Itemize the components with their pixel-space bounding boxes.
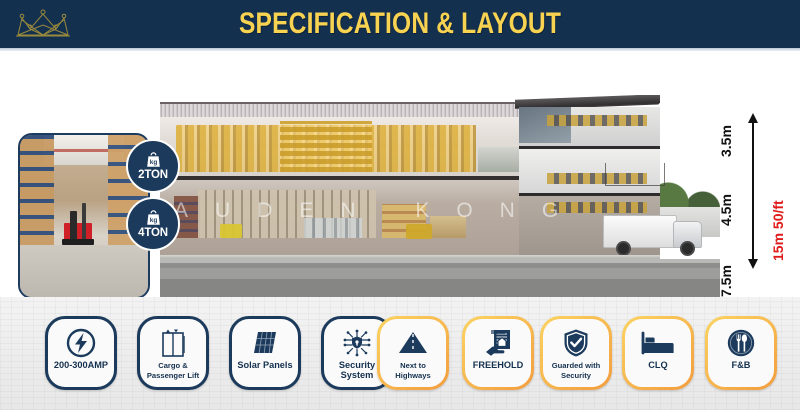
feature-badge-solar[interactable]: Solar Panels (229, 316, 301, 390)
capacity-badge-label: 4TON (138, 227, 168, 239)
shield-check-icon (563, 328, 589, 358)
feature-badge-label: 200-300AMP (51, 361, 111, 371)
office-level-3 (519, 107, 660, 149)
capacity-badge-label: 2TON (138, 169, 168, 181)
svg-text:kg: kg (149, 217, 157, 224)
feature-badge-strip: 200-300AMP Cargo &Passenger Lift (0, 297, 800, 410)
feature-badge-amp[interactable]: 200-300AMP (45, 316, 117, 390)
ground-storey (160, 180, 541, 259)
stacked-goods-b (430, 216, 466, 238)
dimension-label-level2: 4.5m (718, 194, 734, 226)
feature-badge-label: Cargo &Passenger Lift (144, 361, 202, 380)
dimension-label-level1: 7.5m (718, 265, 734, 297)
office-desks-l1 (547, 202, 647, 213)
warehouse-cross-section: 5° Pitch Fall (160, 95, 720, 297)
fork-spoon-icon (726, 328, 756, 358)
security-shield-circuit-icon (342, 328, 372, 358)
page-title: SPECIFICATION & LAYOUT (72, 0, 728, 48)
feature-badge-clq[interactable]: CLQ (622, 316, 694, 390)
office-level-2 (519, 149, 660, 196)
delivery-truck-body (603, 215, 677, 248)
truck-wheel-front (680, 241, 695, 256)
capacity-badge-2ton: kg 2TON (126, 139, 180, 193)
feature-badge-label: F&B (729, 361, 754, 371)
specification-layout-page: SPECIFICATION & LAYOUT 5° Pitch Fall (0, 0, 800, 410)
pitch-fall-label: 5° Pitch Fall (168, 95, 212, 97)
highway-road-icon (396, 328, 430, 358)
crown-icon (12, 7, 74, 41)
office-desks-l3 (547, 115, 647, 126)
upper-storey (160, 117, 541, 180)
feature-badge-label: Next toHighways (392, 361, 433, 380)
photo-racking-left (20, 135, 54, 247)
feature-badge-fnb[interactable]: F&B (705, 316, 777, 390)
double-headed-arrow-icon (747, 113, 759, 269)
mezzanine-railing (605, 163, 665, 186)
feature-badge-label: Guarded withSecurity (549, 361, 604, 380)
access-road (160, 259, 720, 297)
forklift-right (406, 224, 432, 239)
weight-kg-icon: kg (145, 152, 162, 168)
feature-badge-list: 200-300AMP Cargo &Passenger Lift (0, 297, 800, 410)
svg-text:kg: kg (149, 159, 157, 166)
page-header: SPECIFICATION & LAYOUT (0, 0, 800, 48)
forklift-left (220, 224, 242, 238)
truck-wheel-rear (616, 241, 631, 256)
pallet-racking-tall (280, 121, 372, 172)
dimension-label-total: 15m 50/ft (770, 200, 786, 261)
dimension-label-level3: 3.5m (718, 125, 734, 157)
crates-group (304, 218, 362, 238)
feature-badge-guarded[interactable]: Guarded withSecurity (540, 316, 612, 390)
lightning-bolt-icon (66, 328, 96, 358)
feature-badge-label: FREEHOLD (470, 361, 527, 371)
capacity-badge-4ton: kg 4TON (126, 197, 180, 251)
feature-badge-highways[interactable]: Next toHighways (377, 316, 449, 390)
weight-kg-icon: kg (145, 210, 162, 226)
photo-forklift (62, 201, 96, 247)
feature-badge-label: SecuritySystem (336, 361, 378, 380)
elevator-icon (159, 328, 187, 358)
photo-floor (20, 245, 148, 297)
solar-panel-icon (250, 328, 280, 358)
feature-badge-label: CLQ (645, 361, 670, 371)
layout-illustration-panel: 5° Pitch Fall (0, 51, 800, 297)
feature-badge-freehold[interactable]: FREEHOLD (462, 316, 534, 390)
feature-badge-lift[interactable]: Cargo &Passenger Lift (137, 316, 209, 390)
document-hand-icon (483, 328, 514, 358)
feature-badge-label: Solar Panels (234, 361, 295, 371)
bed-icon (641, 328, 675, 358)
